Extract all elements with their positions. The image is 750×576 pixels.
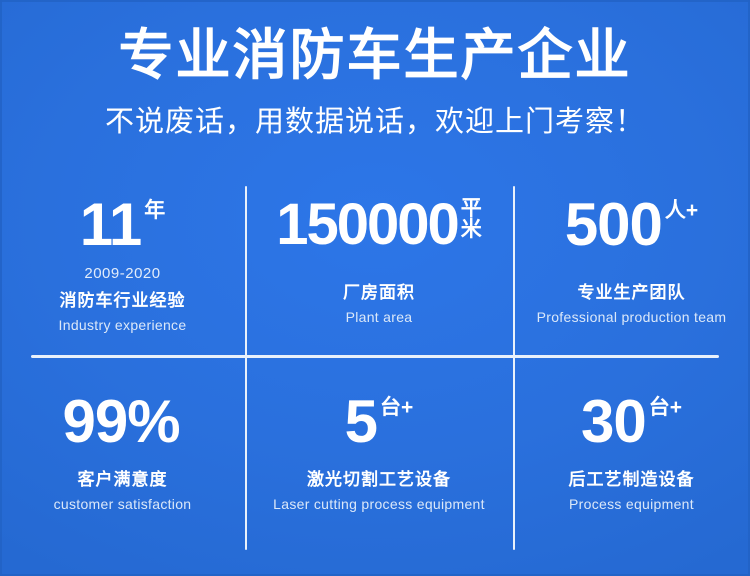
stat-value-line: 11 年	[80, 194, 165, 256]
stat-value-line: 500 人+	[565, 194, 698, 256]
stat-value: 5	[345, 391, 377, 453]
stat-cell-industry-experience: 11 年 2009-2020 消防车行业经验 Industry experien…	[0, 186, 245, 355]
stat-label-en: Laser cutting process equipment	[273, 495, 485, 513]
stat-unit: 台+	[380, 396, 413, 419]
page-subtitle: 不说废话，用数据说话，欢迎上门考察！	[0, 104, 750, 140]
stat-cell-customer-satisfaction: 99% 客户满意度 customer satisfaction	[0, 355, 245, 554]
stat-value-line: 5 台+	[345, 391, 414, 453]
stat-label-cn: 后工艺制造设备	[569, 469, 695, 491]
stat-unit-bottom: 米	[461, 219, 482, 240]
stat-period: 2009-2020	[84, 265, 160, 283]
stat-value-line: 150000 平 米	[276, 194, 482, 256]
stat-label-en: Professional production team	[537, 308, 727, 326]
stat-value-line: 30 台+	[581, 391, 682, 453]
stat-label-cn: 客户满意度	[78, 469, 168, 491]
stat-label-en: Plant area	[346, 308, 413, 326]
stat-value: 150000	[276, 194, 458, 256]
stat-cell-production-team: 500 人+ 专业生产团队 Professional production te…	[513, 186, 750, 355]
stat-unit-top: 平	[461, 198, 482, 219]
stat-value: 30	[581, 391, 646, 453]
stat-cell-process-equipment: 30 台+ 后工艺制造设备 Process equipment	[513, 355, 750, 554]
stat-label-cn: 激光切割工艺设备	[307, 469, 451, 491]
page-title: 专业消防车生产企业	[0, 20, 750, 90]
banner-edge-top	[0, 0, 750, 2]
stat-value: 99%	[62, 391, 179, 453]
stat-cell-laser-cutting: 5 台+ 激光切割工艺设备 Laser cutting process equi…	[245, 355, 513, 554]
stat-label-en: Process equipment	[569, 495, 694, 513]
stat-label-cn: 消防车行业经验	[60, 290, 186, 312]
stat-value: 11	[80, 194, 141, 256]
stats-banner: 专业消防车生产企业 不说废话，用数据说话，欢迎上门考察！ 11 年 2009-2…	[0, 0, 750, 576]
stat-value: 500	[565, 194, 662, 256]
stat-cell-plant-area: 150000 平 米 厂房面积 Plant area	[245, 186, 513, 355]
stat-unit: 年	[144, 199, 165, 222]
banner-header: 专业消防车生产企业 不说废话，用数据说话，欢迎上门考察！	[0, 20, 750, 140]
stat-label-cn: 专业生产团队	[578, 282, 686, 304]
stat-value-line: 99%	[62, 391, 182, 453]
stat-unit: 平 米	[461, 198, 482, 240]
stat-label-en: Industry experience	[59, 316, 187, 334]
stat-label-en: customer satisfaction	[54, 495, 192, 513]
stat-label-cn: 厂房面积	[343, 282, 415, 304]
stats-grid: 11 年 2009-2020 消防车行业经验 Industry experien…	[0, 186, 750, 554]
stat-unit: 台+	[649, 396, 682, 419]
stat-unit: 人+	[665, 199, 698, 222]
